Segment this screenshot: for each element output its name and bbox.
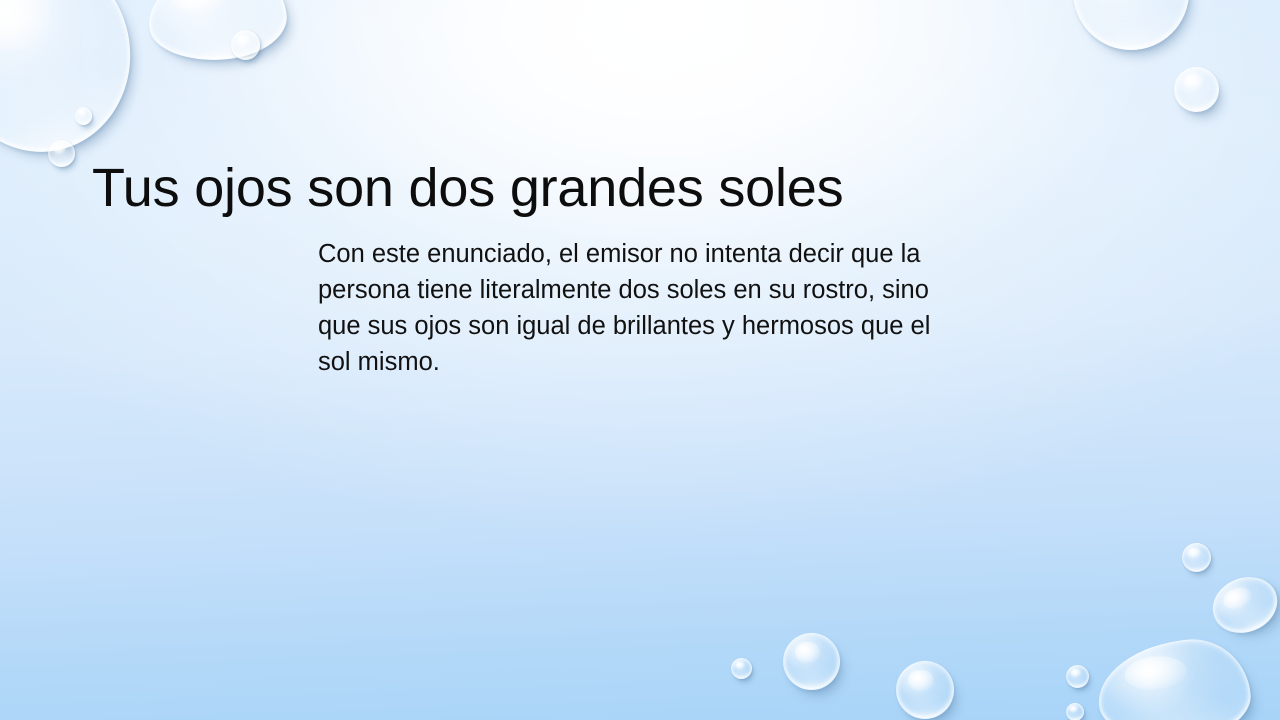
water-droplet-bottom-center-mini xyxy=(731,658,752,679)
presentation-slide: Tus ojos son dos grandes soles Con este … xyxy=(0,0,1280,720)
water-droplet-bottom-right-mini-a xyxy=(1066,665,1089,688)
slide-body-text: Con este enunciado, el emisor no intenta… xyxy=(318,236,958,380)
water-droplet-bottom-right-blob xyxy=(1094,635,1254,720)
water-droplet-left-mini xyxy=(75,107,92,125)
water-droplet-right-oval xyxy=(1204,568,1280,643)
water-droplet-bottom-right-round xyxy=(896,661,954,719)
water-droplet-left-small xyxy=(48,140,75,167)
water-droplet-bottom-center xyxy=(783,633,840,690)
water-droplet-right-upper xyxy=(1174,67,1219,112)
water-droplet-large-top-left xyxy=(0,0,143,164)
water-droplet-right-mid-small xyxy=(1182,543,1211,572)
slide-title: Tus ojos son dos grandes soles xyxy=(92,158,843,218)
water-droplet-top-center-small xyxy=(231,30,260,60)
water-droplet-top-right-large xyxy=(1073,0,1189,50)
water-droplet-bottom-right-mini-b xyxy=(1066,703,1084,720)
body-paragraph: Con este enunciado, el emisor no intenta… xyxy=(318,236,958,380)
water-droplet-top-left-upper xyxy=(143,0,290,67)
